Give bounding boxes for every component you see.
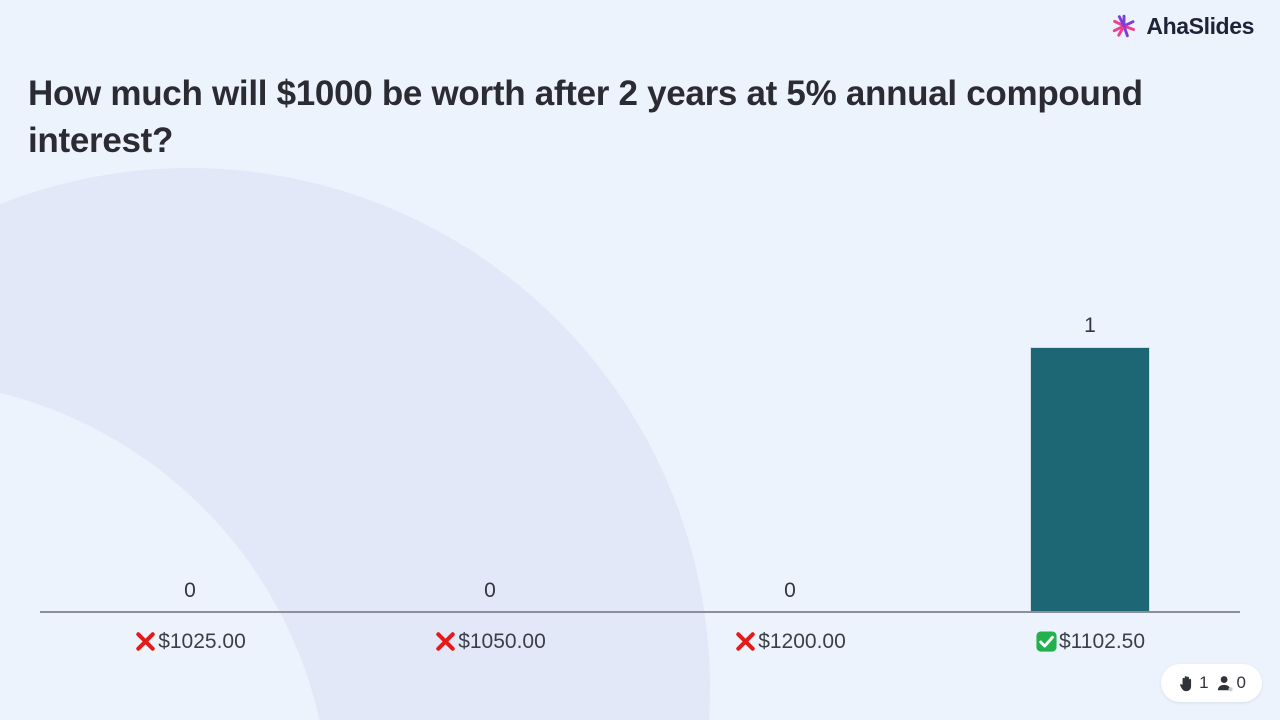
chart-x-axis-labels: $1025.00 $1050.00 $1200.00	[40, 613, 1240, 670]
answer-option-4: $1102.50	[940, 630, 1240, 654]
person-icon	[1215, 674, 1234, 693]
cross-mark-icon	[734, 630, 757, 653]
bar-value-label: 0	[784, 580, 796, 601]
chart-column: 0	[340, 170, 640, 612]
aha-burst-icon	[1109, 11, 1139, 41]
chart-column: 0	[640, 170, 940, 612]
answer-option-label: $1102.50	[1059, 630, 1145, 654]
bar	[1030, 347, 1150, 612]
participants-counter: 0	[1215, 673, 1246, 693]
raised-hand-icon	[1177, 674, 1196, 693]
participants-count: 0	[1237, 673, 1246, 693]
check-mark-icon	[1035, 630, 1058, 653]
answer-option-3: $1200.00	[640, 630, 940, 654]
page-title: How much will $1000 be worth after 2 yea…	[28, 70, 1158, 164]
answer-option-1: $1025.00	[40, 630, 340, 654]
answer-option-label: $1025.00	[158, 630, 246, 654]
status-badge[interactable]: 1 0	[1161, 664, 1262, 702]
raised-hand-count: 1	[1199, 673, 1208, 693]
chart-column: 0	[40, 170, 340, 612]
poll-results-chart: 0 0 0 1 $1025.00	[40, 170, 1240, 670]
chart-plot-area: 0 0 0 1	[40, 170, 1240, 612]
brand-name: AhaSlides	[1146, 13, 1254, 40]
bar-value-label: 1	[1084, 315, 1096, 336]
cross-mark-icon	[134, 630, 157, 653]
answer-option-2: $1050.00	[340, 630, 640, 654]
cross-mark-icon	[434, 630, 457, 653]
answer-option-label: $1200.00	[758, 630, 846, 654]
bar-value-label: 0	[484, 580, 496, 601]
raised-hand-counter: 1	[1177, 673, 1208, 693]
brand-logo: AhaSlides	[1109, 11, 1254, 41]
chart-column: 1	[940, 170, 1240, 612]
bar-value-label: 0	[184, 580, 196, 601]
answer-option-label: $1050.00	[458, 630, 546, 654]
